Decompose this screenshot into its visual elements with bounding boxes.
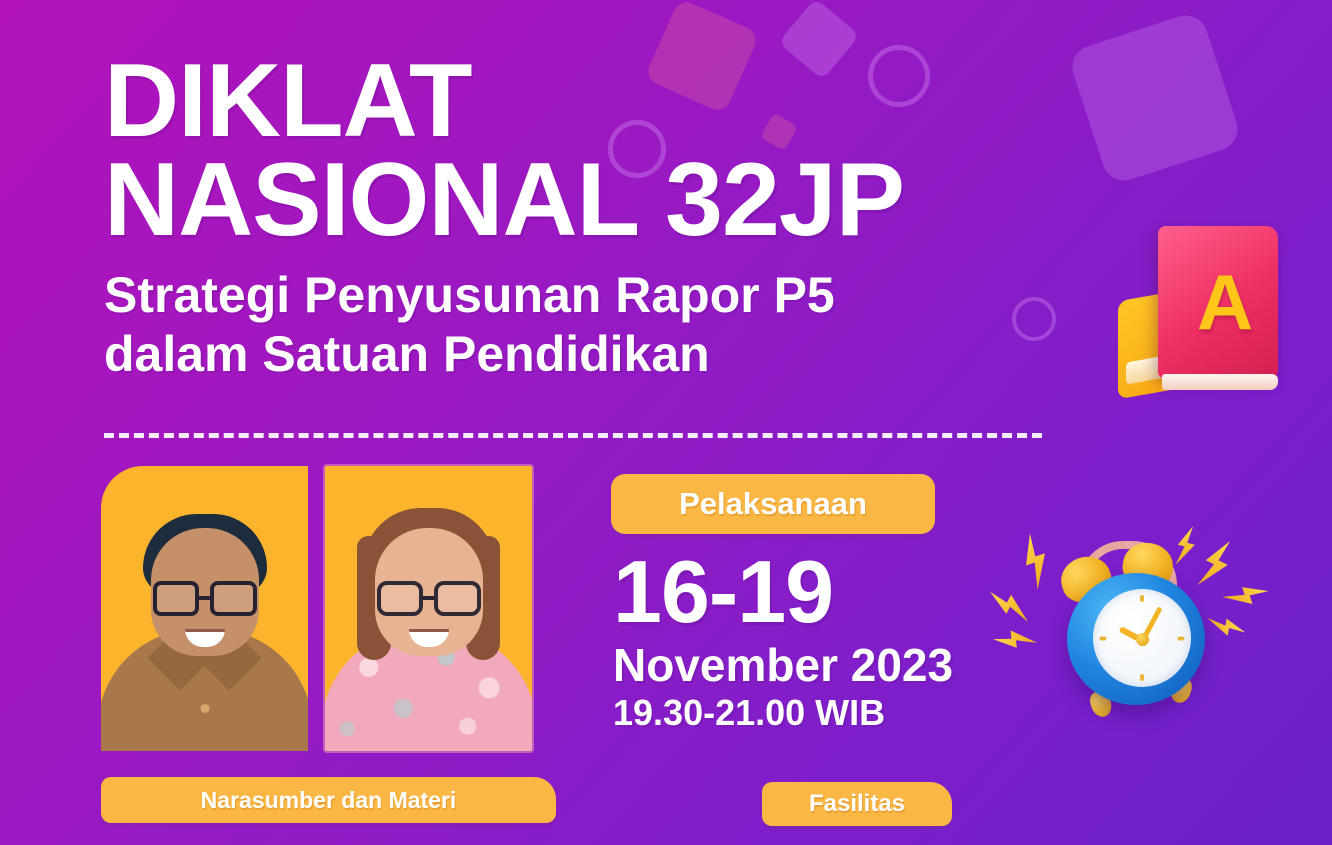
speaker-photo-female [325,466,532,751]
lightning-bolt-icon [1219,575,1272,618]
fasilitas-badge: Fasilitas [762,782,952,826]
title-line-1: DIKLAT [104,52,1104,151]
date-range: 16-19 [613,552,953,633]
lightning-bolt-icon [1011,529,1061,593]
headline-block: DIKLAT NASIONAL 32JP Strategi Penyusunan… [104,52,1104,384]
glasses-icon [377,584,481,612]
lightning-bolt-icon [1189,532,1243,595]
subtitle-line-2: dalam Satuan Pendidikan [104,325,1104,384]
clock-center-pin [1136,633,1149,646]
dashed-divider [104,433,1042,438]
lightning-bolt-icon [1204,611,1248,644]
lightning-bolt-icon [992,623,1039,655]
promotional-banner: DIKLAT NASIONAL 32JP Strategi Penyusunan… [0,0,1332,845]
schedule-block: 16-19 November 2023 19.30-21.00 WIB [613,552,953,733]
subtitle-line-1: Strategi Penyusunan Rapor P5 [104,266,1104,325]
lightning-bolt-icon [982,580,1038,629]
time-range: 19.30-21.00 WIB [613,693,953,733]
alarm-clock-illustration [995,515,1295,765]
subtitle-block: Strategi Penyusunan Rapor P5 dalam Satua… [104,266,1104,384]
speaker-photos [101,466,532,751]
month-year: November 2023 [613,641,953,689]
book-letter: A [1158,226,1278,378]
title-line-2: NASIONAL 32JP [104,151,1104,250]
glasses-icon [153,584,257,612]
lightning-bolt-icon [1168,522,1203,569]
speaker-photo-male [101,466,308,751]
pelaksanaan-badge: Pelaksanaan [611,474,935,534]
narasumber-badge: Narasumber dan Materi [101,777,556,823]
book-illustration: A [1118,218,1328,418]
